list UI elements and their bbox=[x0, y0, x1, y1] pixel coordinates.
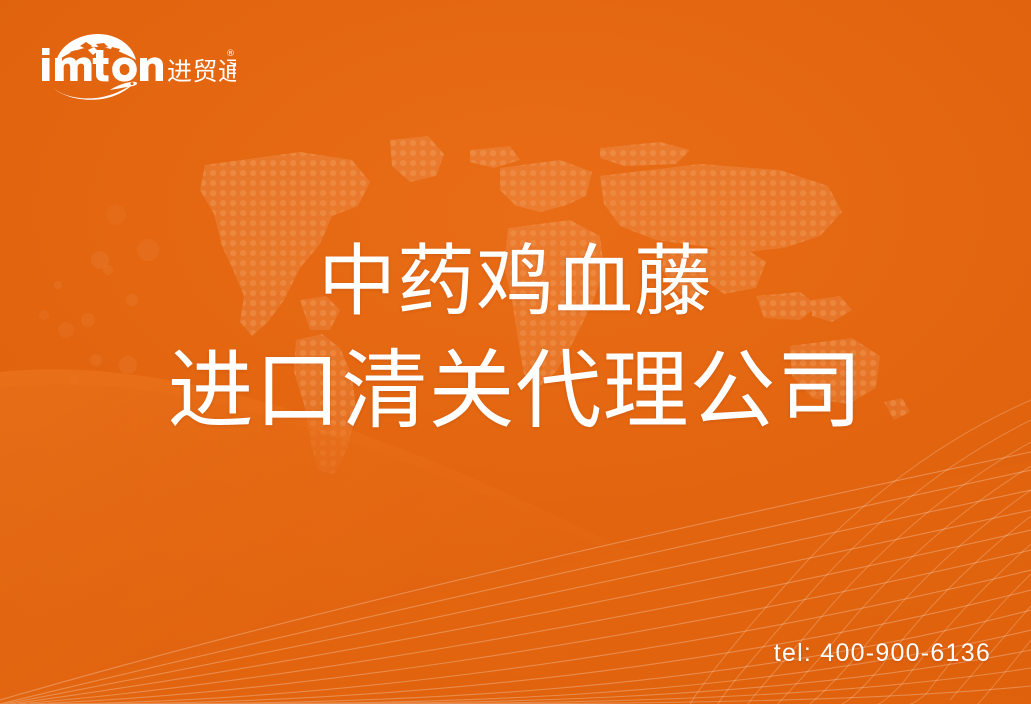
headline-line-2: 进口清关代理公司 bbox=[0, 336, 1031, 446]
promo-banner: 进贸通 ® 中药鸡血藤 进口清关代理公司 tel: 400-900-6136 bbox=[0, 0, 1031, 704]
page-title: 中药鸡血藤 进口清关代理公司 bbox=[0, 232, 1031, 446]
registered-trademark-icon: ® bbox=[226, 49, 235, 59]
swoosh-icon bbox=[50, 82, 137, 100]
svg-text:进贸通: 进贸通 bbox=[167, 57, 236, 86]
logo-chinese-text: 进贸通 ® bbox=[167, 49, 236, 86]
contact-phone[interactable]: tel: 400-900-6136 bbox=[774, 639, 991, 668]
headline-line-1: 中药鸡血藤 bbox=[0, 232, 1031, 332]
brand-logo[interactable]: 进贸通 ® bbox=[36, 28, 236, 102]
